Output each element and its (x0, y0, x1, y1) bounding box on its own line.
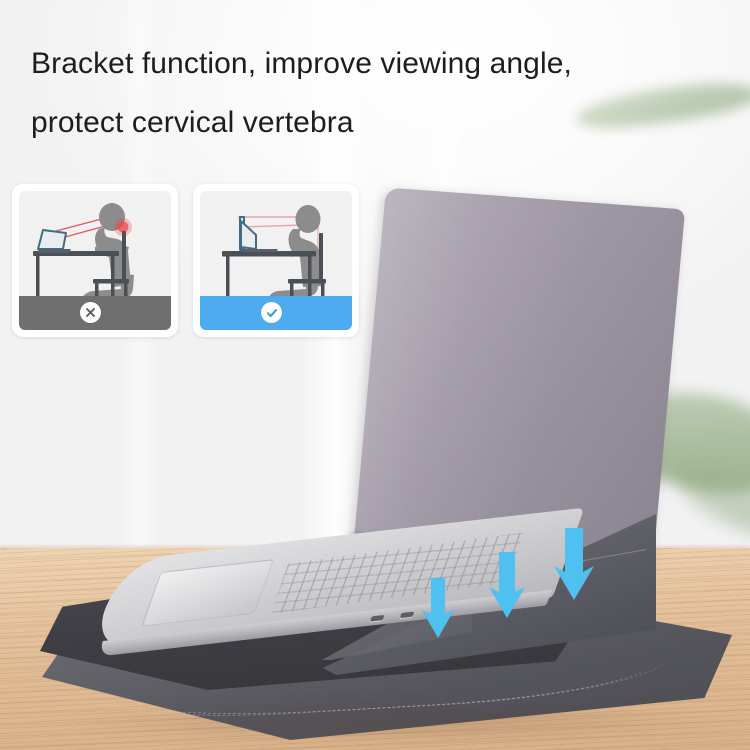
product-marketing-image: Bracket function, improve viewing angle,… (0, 0, 750, 750)
desk-contact-shadow (60, 700, 720, 744)
card-incorrect-posture (12, 184, 178, 337)
card-inner (19, 191, 171, 330)
check-icon (261, 302, 282, 323)
page-title: Bracket function, improve viewing angle,… (31, 34, 721, 152)
down-arrow-icon (487, 552, 527, 620)
card-inner (200, 191, 352, 330)
cross-icon (80, 302, 101, 323)
down-arrow-icon (552, 528, 596, 602)
down-arrow-icon (420, 578, 456, 640)
card-correct-posture (193, 184, 359, 337)
